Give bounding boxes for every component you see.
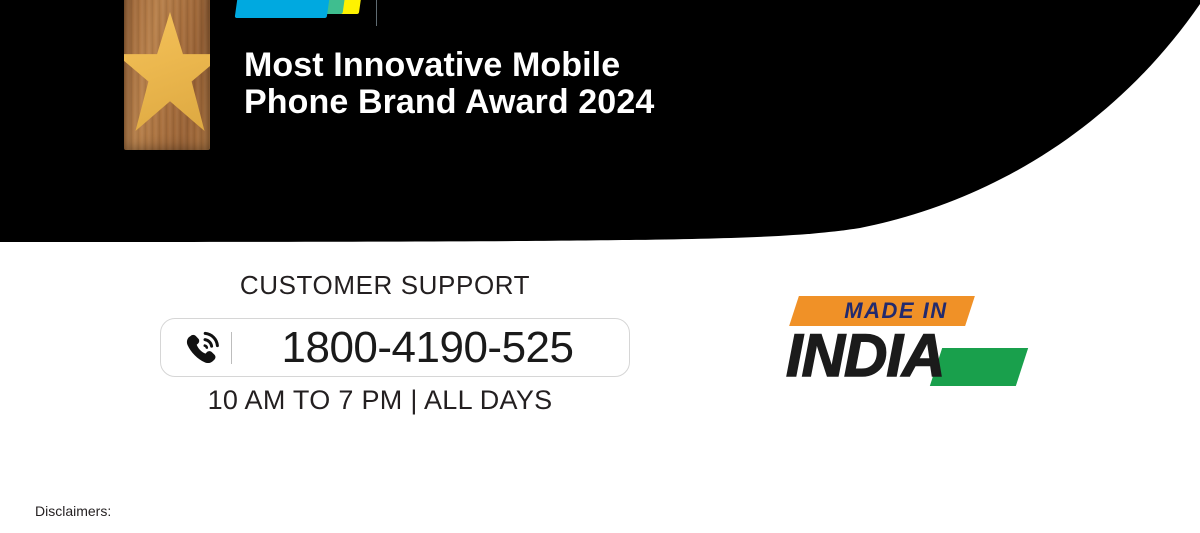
support-hours: 10 AM TO 7 PM | ALL DAYS (0, 385, 770, 415)
phone-box-divider (231, 332, 232, 364)
customer-support-section: CUSTOMER SUPPORT 1800-4190-525 10 AM TO … (0, 270, 780, 300)
support-phone-number[interactable]: 1800-4190-525 (236, 325, 629, 371)
award-trophy-image (124, 0, 210, 150)
india-wordmark: INDIA (786, 324, 944, 388)
ces-logo-divider (376, 0, 377, 26)
hero-content: CES Technology Association Most Innovati… (0, 0, 1200, 260)
ces-logo-icon: CES (240, 0, 372, 26)
india-green-stripe (930, 348, 1028, 386)
page-root: CES Technology Association Most Innovati… (0, 0, 1200, 533)
customer-support-heading: CUSTOMER SUPPORT (0, 270, 780, 300)
award-title: Most Innovative Mobile Phone Brand Award… (244, 47, 654, 121)
phone-ringing-icon (175, 331, 231, 365)
trophy-star-icon (124, 12, 210, 136)
made-in-india-badge: MADE IN INDIA (786, 296, 1026, 401)
support-phone-box[interactable]: 1800-4190-525 (160, 318, 630, 377)
ces-tile-blue (235, 0, 338, 18)
disclaimers-label: Disclaimers: (35, 502, 111, 520)
